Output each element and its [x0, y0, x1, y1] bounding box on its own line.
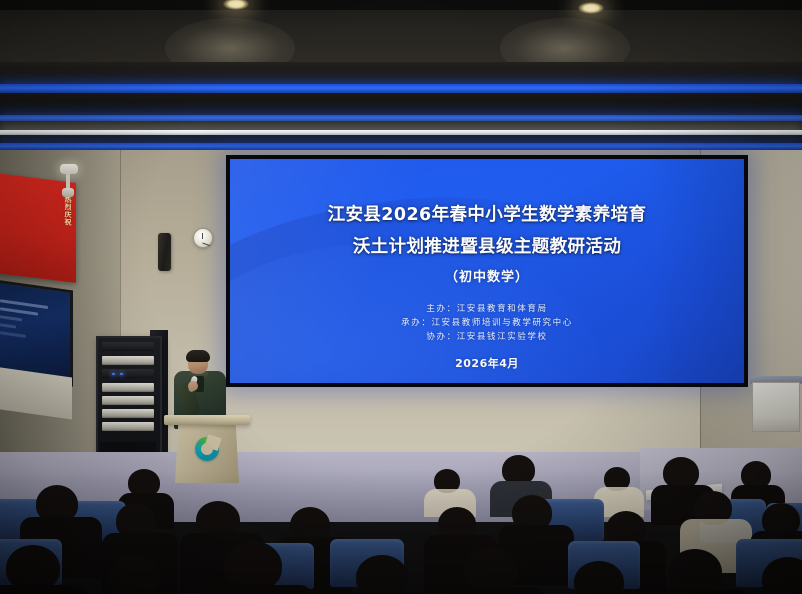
equipment-rack [96, 336, 162, 462]
projection-screen: 江安县2026年春中小学生数学素养培育 沃土计划推进暨县级主题教研活动 （初中数… [230, 159, 744, 383]
person-shoulders [646, 589, 750, 594]
display-text-line [0, 307, 38, 315]
rack-unit [102, 369, 154, 378]
person-head [668, 549, 722, 594]
clock-hour-hand [202, 233, 203, 239]
person-head [108, 555, 160, 594]
display-text-line [0, 315, 22, 321]
wall-camera-icon [62, 188, 74, 197]
rack-unit [102, 356, 154, 365]
rack-unit [102, 383, 154, 392]
ceiling-led-strip [0, 84, 802, 93]
presenter-hand [188, 381, 198, 391]
display-content [0, 299, 50, 346]
ceiling-edge [0, 0, 802, 10]
downlight-icon [578, 2, 604, 14]
status-led-icon [120, 373, 123, 375]
person-shoulders [442, 587, 544, 594]
wall-clock-icon [193, 228, 213, 248]
ceiling-soffit [0, 62, 802, 84]
rack-unit [102, 396, 154, 405]
person-head [356, 555, 408, 594]
clock-minute-hand [202, 243, 210, 247]
auditorium-photo: 江安县2026年春中小学生数学素养培育 沃土计划推进暨县级主题教研活动 （初中数… [0, 0, 802, 594]
person-head [224, 541, 282, 591]
person-shoulders [0, 585, 88, 594]
rack-unit [102, 409, 154, 418]
display-text-line [0, 323, 16, 328]
person-shoulders [200, 585, 312, 594]
logo-inner [201, 443, 213, 455]
rack-unit [102, 342, 154, 351]
wall-light-icon [60, 164, 78, 174]
rack-unit [102, 422, 154, 431]
control-console [752, 382, 800, 432]
banner-text: 热烈庆祝 [0, 188, 72, 269]
audience [0, 455, 802, 594]
ceiling-soffit [0, 121, 802, 130]
wall-speaker-icon [158, 233, 171, 271]
ceiling-soffit [0, 135, 802, 143]
presenter-hair [186, 350, 210, 362]
display-text-line [0, 331, 26, 338]
ceiling-led-strip [0, 143, 802, 150]
podium-top [164, 415, 250, 425]
status-led-icon [112, 373, 115, 375]
ceiling-soffit [0, 93, 802, 115]
screen-reflection [230, 159, 744, 383]
